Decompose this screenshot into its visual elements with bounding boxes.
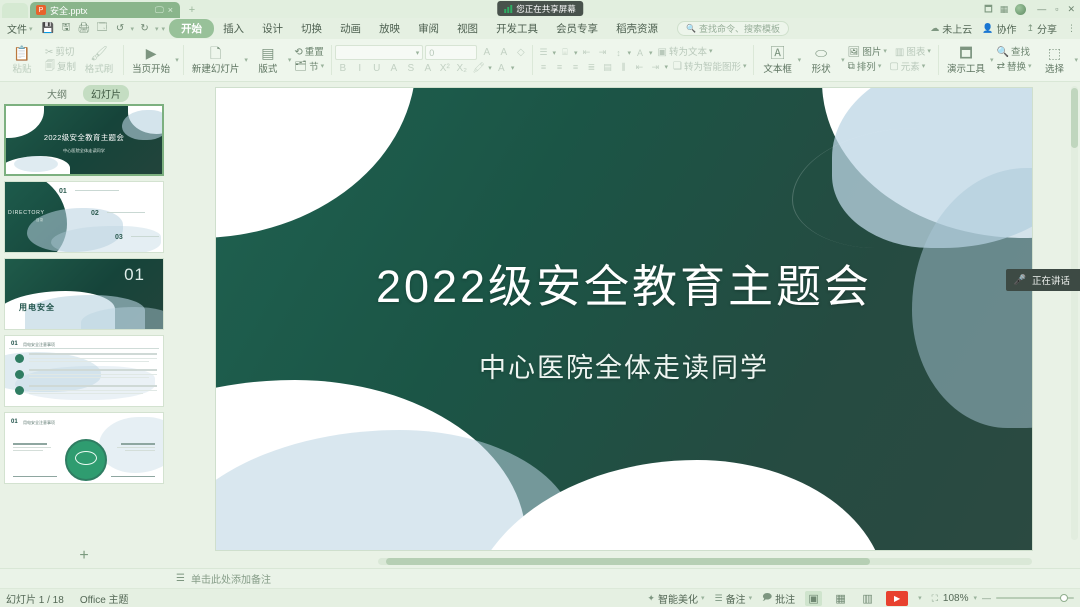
ribbon-group-start: ▶ 当页开始 ▾ [127, 40, 179, 81]
bold-button[interactable]: B [335, 61, 350, 75]
beautify-label: 智能美化 [658, 591, 698, 606]
window-controls: — ▫ ✕ [1037, 5, 1075, 14]
slide-canvas-area[interactable]: 2022级安全教育主题会 中心医院全体走读同学 [168, 82, 1080, 568]
ribbon-group-insert: 🄰 文本框 ▾ ⬭ 形状 ▾ 🖼 图片 ▾ ▥ 图表 [758, 40, 934, 81]
section-icon: 🗂 [294, 62, 307, 72]
picture-label: 图片 [862, 47, 881, 59]
chevron-down-icon: ▾ [883, 48, 887, 57]
font-color-dropdown-icon[interactable]: ▾ [511, 64, 515, 72]
minimize-button[interactable]: — [1037, 5, 1046, 14]
element-button[interactable]: ▢ 元素 ▾ [886, 61, 928, 75]
ribbon-group-slides: 🗋 新建幻灯片 ▾ ▤ 版式 ▾ ⟲ 重置 🗂 节 [187, 40, 327, 81]
clear-format-icon[interactable]: ◇ [513, 46, 528, 60]
shape-icon: ⬭ [815, 46, 827, 60]
share-icon: ↥ [1026, 23, 1034, 34]
thumb-content-number-5: 01 [11, 419, 18, 425]
element-icon: ▢ [889, 62, 898, 72]
customize-qat-icon[interactable]: ▾ [162, 25, 166, 33]
collaborate-button[interactable]: 👤 协作 [982, 21, 1016, 36]
start-from-current-button[interactable]: ▶ 当页开始 [127, 45, 175, 76]
cut-label: 剪切 [55, 47, 74, 59]
beautify-icon: ✦ [647, 593, 655, 604]
grid-icon[interactable]: ▦ [1000, 5, 1009, 14]
insert-small-buttons: 🖼 图片 ▾ ▥ 图表 ▾ ⧉ 排列 ▾ [845, 40, 934, 81]
chart-icon: ▥ [895, 48, 904, 58]
format-painter-label: 格式刷 [85, 61, 114, 75]
start-dropdown-icon[interactable]: ▾ [175, 56, 179, 64]
thumb-content-number: 01 [11, 341, 18, 347]
paste-icon: 📋 [13, 46, 30, 60]
tab-resources[interactable]: 稻壳资源 [607, 19, 667, 38]
ribbon-tabs: 开始 插入 设计 切换 动画 放映 审阅 视图 开发工具 会员专享 稻壳资源 [169, 19, 667, 38]
thumbnail-list[interactable]: 2022级安全教育主题会 中心医院全体走读同学 DIRECTORY 目录 01 [0, 104, 168, 544]
new-slide-button[interactable]: 🗋 新建幻灯片 [187, 45, 245, 76]
indent-icon[interactable]: ⇥ [595, 46, 609, 59]
paragraph-controls: ☰ ▾ ⌸ ▾ ⇤ ⇥ ↕ ▾ A ▾ ▣ 转为文本 ▾ [536, 40, 749, 81]
slide-title[interactable]: 2022级安全教育主题会 [216, 250, 1032, 315]
slide-editor: 2022级安全教育主题会 中心医院全体走读同学 [168, 82, 1080, 568]
redo-icon[interactable]: ↻ [137, 21, 152, 36]
font-size-select[interactable]: 0 [425, 45, 477, 60]
zoom-level[interactable]: 108% [943, 593, 969, 604]
slide-sorter-icon[interactable]: ▦ [832, 591, 849, 606]
shadow-button[interactable]: S [403, 61, 418, 75]
tab-animation[interactable]: 动画 [331, 19, 370, 38]
search-icon: 🔍 [997, 48, 1009, 58]
present-tool-button[interactable]: 🗖 演示工具 [942, 45, 990, 76]
search-icon: 🔍 [686, 24, 696, 33]
find-button[interactable]: 🔍 查找 [994, 46, 1033, 60]
replace-label: 替换 [1007, 62, 1026, 74]
ribbon-group-clipboard: 📋 粘贴 ✂ 剪切 🗐 复制 🖌 [2, 40, 119, 81]
horizontal-scrollbar[interactable] [378, 558, 1032, 565]
chevron-down-icon: ▾ [1028, 63, 1032, 72]
tab-start[interactable]: 开始 [169, 19, 214, 38]
decrease-list-level-icon[interactable]: ⇤ [632, 61, 646, 74]
format-painter-button[interactable]: 🖌 格式刷 [79, 45, 119, 76]
zoom-slider-knob[interactable] [1060, 594, 1068, 602]
picture-icon: 🖼 [848, 48, 861, 58]
format-painter-icon: 🖌 [90, 46, 108, 60]
align-left-icon[interactable]: ≡ [536, 61, 550, 74]
arrange-button[interactable]: ⧉ 排列 ▾ [845, 61, 885, 75]
title-bar-tabs: P 安全.pptx 🖵 × + [0, 0, 200, 18]
cloud-status-button[interactable]: ☁ 未上云 [930, 21, 972, 36]
tab-slideshow[interactable]: 放映 [370, 19, 409, 38]
menu-bar: 文件 ▾ 💾 🖫 🖨 🗔 ↺ ▾ ↻ ▾ ▾ 开始 插入 设计 切换 动画 放映… [0, 18, 1080, 39]
zoom-control: ⛶ 108% ▾ — [932, 593, 1074, 604]
font-controls: ▾ 0 A A ◇ B I U A S A X² X₂ [335, 40, 528, 81]
status-bar: 幻灯片 1 / 18 Office 主题 ✦ 智能美化 ▾ ☰ 备注 ▾ 🗩 批… [0, 588, 1080, 607]
screen-sharing-label: 您正在共享屏幕 [516, 3, 576, 15]
document-tab-label: 安全.pptx [50, 4, 88, 17]
font-size-value: 0 [429, 48, 434, 58]
thumb-content-title-5: 用电安全注意事项 [23, 420, 55, 426]
thumb-subtitle-1: 中心医院全体走读同学 [6, 148, 162, 154]
reading-view-icon[interactable]: ▥ [859, 591, 876, 606]
section-button[interactable]: 🗂 节 ▾ [291, 61, 327, 75]
columns-icon[interactable]: ⫼ [616, 61, 630, 74]
fit-slide-icon[interactable]: ⛶ [932, 593, 938, 604]
tab-member[interactable]: 会员专享 [547, 19, 607, 38]
print-icon[interactable]: 🖨 [77, 21, 92, 36]
current-slide[interactable]: 2022级安全教育主题会 中心医院全体走读同学 [216, 88, 1032, 550]
ribbon-group-font: ▾ 0 A A ◇ B I U A S A X² X₂ [335, 40, 528, 81]
new-tab-button[interactable]: + [184, 2, 200, 18]
tab-outline[interactable]: 大纲 [39, 85, 75, 102]
underline-button[interactable]: U [369, 61, 384, 75]
new-slide-label: 新建幻灯片 [192, 61, 240, 75]
element-label: 元素 [901, 62, 920, 74]
copy-button[interactable]: 🗐 复制 [42, 61, 79, 75]
status-left: 幻灯片 1 / 18 Office 主题 [6, 591, 129, 606]
chevron-down-icon: ▾ [749, 594, 753, 602]
thumb-section-title: 用电安全 [19, 302, 55, 313]
cloud-status-label: 未上云 [942, 21, 972, 36]
thumbnail-artwork: 2022级安全教育主题会 中心医院全体走读同学 [6, 106, 162, 174]
layout-icon: ▤ [261, 46, 274, 60]
font-color-button[interactable]: A [494, 61, 509, 75]
title-bar: P 安全.pptx 🖵 × + 您正在共享屏幕 🗖 ▦ — ▫ ✕ [0, 0, 1080, 18]
numbering-icon[interactable]: ⌸ [558, 46, 572, 59]
panel-tabs: 大纲 幻灯片 [0, 82, 168, 104]
textbox-label: 文本框 [763, 61, 792, 75]
slide-thumbnail-1[interactable]: 2022级安全教育主题会 中心医院全体走读同学 [4, 104, 164, 176]
paste-label: 粘贴 [12, 61, 31, 75]
chevron-down-icon: ▾ [927, 48, 931, 57]
select-dropdown-icon[interactable]: ▾ [1074, 56, 1078, 64]
thumbnail-artwork: DIRECTORY 目录 01 02 03 [5, 182, 163, 252]
select-label: 选择 [1045, 61, 1064, 75]
play-circle-icon: ▶ [146, 46, 157, 60]
comment-label: 批注 [775, 591, 795, 606]
subscript-button[interactable]: X₂ [454, 61, 469, 75]
undo-dropdown-icon[interactable]: ▾ [131, 25, 135, 33]
wps-logo[interactable] [2, 3, 28, 18]
list-level-dropdown-icon[interactable]: ▾ [664, 63, 668, 71]
quick-access-toolbar: 💾 🖫 🖨 🗔 ↺ ▾ ↻ ▾ ▾ [37, 21, 170, 36]
layout-icon[interactable]: 🗖 [984, 5, 993, 14]
notes-bar[interactable]: ☰ 单击此处添加备注 [0, 568, 1080, 588]
highlight-icon[interactable]: 🖍 [471, 61, 486, 75]
theme-name[interactable]: Office 主题 [80, 591, 129, 606]
work-area: 大纲 幻灯片 2022级安全教育主题会 中心医院全体走读同学 [0, 82, 1080, 568]
line-spacing-icon[interactable]: ↕ [611, 46, 625, 59]
thumb-item-02: 02 [91, 210, 99, 217]
more-options-button[interactable]: ⋮ [1067, 23, 1076, 34]
notes-placeholder: 单击此处添加备注 [191, 571, 271, 586]
maximize-button[interactable]: ▫ [1055, 5, 1058, 14]
menu-bar-right: ☁ 未上云 👤 协作 ↥ 分享 ⋮ [930, 18, 1076, 39]
textbox-button[interactable]: 🄰 文本框 [758, 45, 798, 76]
slide-subtitle[interactable]: 中心医院全体走读同学 [216, 346, 1032, 385]
character-spacing-button[interactable]: A [420, 61, 435, 75]
ribbon-toolbar: 📋 粘贴 ✂ 剪切 🗐 复制 🖌 [0, 39, 1080, 82]
paste-button[interactable]: 📋 粘贴 [2, 45, 42, 76]
normal-view-icon[interactable]: ▣ [805, 591, 822, 606]
beautify-button[interactable]: ✦ 智能美化 ▾ [647, 591, 704, 606]
highlight-dropdown-icon[interactable]: ▾ [488, 64, 492, 72]
screen-sharing-badge: 您正在共享屏幕 [497, 1, 583, 16]
strikethrough-button[interactable]: A [386, 61, 401, 75]
text-direction-dropdown-icon[interactable]: ▾ [649, 49, 653, 57]
search-placeholder: 查找命令、搜索模板 [699, 22, 780, 35]
print-preview-icon[interactable]: 🗔 [95, 21, 110, 36]
status-right: ✦ 智能美化 ▾ ☰ 备注 ▾ 🗩 批注 ▣ ▦ ▥ ▶ ▾ ⛶ 108% ▾ [647, 590, 1074, 606]
present-tool-icon: 🗖 [959, 46, 972, 60]
arrange-label: 排列 [857, 62, 876, 74]
tab-developer[interactable]: 开发工具 [487, 19, 547, 38]
replace-icon: ⇄ [997, 62, 1005, 72]
shape-button[interactable]: ⬭ 形状 [801, 45, 841, 76]
share-button[interactable]: ↥ 分享 [1026, 21, 1057, 36]
thumb-section-number: 01 [124, 265, 145, 285]
line-spacing-dropdown-icon[interactable]: ▾ [627, 49, 631, 57]
text-direction-icon[interactable]: A [633, 46, 647, 59]
close-tab-icon[interactable]: × [168, 5, 173, 15]
file-menu-button[interactable]: 文件 ▾ [3, 21, 37, 36]
notes-icon: ☰ [176, 573, 185, 584]
chart-button[interactable]: ▥ 图表 ▾ [892, 46, 934, 60]
chevron-down-icon: ▾ [701, 594, 705, 602]
monitor-icon[interactable]: 🖵 [155, 5, 164, 16]
decor-line-bottom [236, 418, 436, 458]
zoom-slider[interactable] [996, 597, 1074, 599]
title-bar-right: 🗖 ▦ — ▫ ✕ [984, 0, 1078, 18]
layout-button[interactable]: ▤ 版式 [248, 45, 288, 76]
speaking-label: 正在讲话 [1032, 273, 1070, 287]
increase-list-level-icon[interactable]: ⇥ [648, 61, 662, 74]
bullets-icon[interactable]: ☰ [536, 46, 550, 59]
slide-thumbnail-4[interactable]: 01 用电安全注意事项 [4, 335, 164, 407]
select-icon: ⬚ [1048, 46, 1061, 60]
textbox-icon: 🄰 [771, 46, 785, 60]
save-icon[interactable]: 💾 [41, 21, 56, 36]
slides-small-buttons: ⟲ 重置 🗂 节 ▾ [291, 40, 327, 81]
align-right-icon[interactable]: ≡ [568, 61, 582, 74]
section-dropdown-icon: ▾ [321, 63, 325, 72]
reset-label: 重置 [305, 47, 324, 59]
share-label: 分享 [1037, 21, 1057, 36]
shape-label: 形状 [812, 61, 831, 75]
cloud-icon: ☁ [930, 23, 939, 34]
cut-button[interactable]: ✂ 剪切 [42, 46, 77, 60]
chevron-down-icon: ▾ [416, 49, 420, 57]
find-label: 查找 [1011, 47, 1030, 59]
slide-thumbnail-5[interactable]: 01 用电安全注意事项 [4, 412, 164, 484]
redo-dropdown-icon[interactable]: ▾ [155, 25, 159, 33]
search-input[interactable]: 🔍 查找命令、搜索模板 [677, 21, 789, 36]
pptx-file-icon: P [36, 5, 46, 15]
tab-review[interactable]: 审阅 [409, 19, 448, 38]
document-tab[interactable]: P 安全.pptx 🖵 × [30, 2, 180, 18]
tab-transition[interactable]: 切换 [292, 19, 331, 38]
outdent-icon[interactable]: ⇤ [579, 46, 593, 59]
font-family-select[interactable]: ▾ [335, 45, 423, 60]
grow-font-button[interactable]: A [479, 46, 494, 60]
ribbon-group-tools: 🗖 演示工具 ▾ 🔍 查找 ⇄ 替换 ▾ [942, 40, 1078, 81]
slide-counter: 幻灯片 1 / 18 [6, 591, 64, 606]
thumbnail-artwork: 01 用电安全注意事项 [5, 413, 163, 483]
scissors-icon: ✂ [45, 48, 53, 58]
present-tool-label: 演示工具 [947, 61, 985, 75]
distribute-icon[interactable]: ▤ [600, 61, 614, 74]
chevron-down-icon: ▾ [29, 25, 33, 33]
bullets-dropdown-icon[interactable]: ▾ [552, 49, 556, 57]
picture-button[interactable]: 🖼 图片 ▾ [845, 46, 890, 60]
close-button[interactable]: ✕ [1067, 5, 1075, 14]
save-as-icon[interactable]: 🖫 [59, 21, 74, 36]
copy-label: 复制 [57, 62, 76, 74]
play-dropdown-icon[interactable]: ▾ [918, 594, 922, 602]
file-menu-label: 文件 [7, 21, 27, 36]
arrange-icon: ⧉ [848, 62, 855, 72]
chevron-down-icon: ▾ [709, 48, 713, 57]
chart-label: 图表 [906, 47, 925, 59]
reset-icon: ⟲ [294, 48, 302, 58]
add-slide-button[interactable]: + [0, 544, 168, 568]
new-slide-icon: 🗋 [210, 46, 221, 60]
avatar[interactable] [1015, 4, 1026, 15]
tab-design[interactable]: 设计 [253, 19, 292, 38]
thumb-directory-sub: 目录 [36, 218, 43, 223]
signal-bars-icon [504, 5, 512, 13]
chevron-down-icon: ▾ [922, 63, 926, 72]
speaking-toast: 🎤 正在讲话 [1006, 269, 1080, 291]
reset-button[interactable]: ⟲ 重置 [291, 46, 326, 60]
thumb-item-03: 03 [115, 234, 123, 241]
chevron-down-icon: ▾ [878, 63, 882, 72]
numbering-dropdown-icon[interactable]: ▾ [574, 49, 578, 57]
collaborate-icon: 👤 [982, 23, 993, 34]
tab-slides[interactable]: 幻灯片 [83, 85, 129, 102]
section-label: 节 [309, 62, 319, 74]
comment-button[interactable]: 🗩 批注 [762, 590, 795, 606]
slide-thumbnail-panel: 大纲 幻灯片 2022级安全教育主题会 中心医院全体走读同学 [0, 82, 168, 568]
align-center-icon[interactable]: ≡ [552, 61, 566, 74]
notes-icon: ☰ [714, 593, 722, 604]
chevron-down-icon: ▾ [743, 63, 747, 72]
replace-button[interactable]: ⇄ 替换 ▾ [994, 61, 1035, 75]
convert-to-text-label: 转为文本 [669, 47, 707, 59]
notes-toggle-label: 备注 [726, 591, 746, 606]
shrink-font-button[interactable]: A [496, 46, 511, 60]
more-icon: ⋮ [1067, 23, 1076, 34]
comment-icon: 🗩 [762, 590, 772, 606]
thumb-item-01: 01 [59, 188, 67, 195]
select-button[interactable]: ⬚ 选择 [1034, 45, 1074, 76]
find-replace-buttons: 🔍 查找 ⇄ 替换 ▾ [994, 40, 1035, 81]
thumbnail-artwork: 01 用电安全 [5, 259, 163, 329]
layout-label: 版式 [258, 61, 277, 75]
zoom-out-button[interactable]: — [982, 593, 991, 603]
convert-to-text-button[interactable]: ▣ 转为文本 ▾ [655, 46, 716, 60]
slide-thumbnail-2[interactable]: DIRECTORY 目录 01 02 03 [4, 181, 164, 253]
thumb-title-1: 2022级安全教育主题会 [6, 132, 162, 143]
wps-presentation-window: P 安全.pptx 🖵 × + 您正在共享屏幕 🗖 ▦ — ▫ ✕ [0, 0, 1080, 607]
justify-icon[interactable]: ≣ [584, 61, 598, 74]
zoom-dropdown-icon[interactable]: ▾ [973, 594, 977, 602]
mic-icon: 🎤 [1014, 275, 1026, 286]
convert-to-smartart-label: 转为智能图形 [684, 62, 741, 74]
undo-icon[interactable]: ↺ [113, 21, 128, 36]
superscript-button[interactable]: X² [437, 61, 452, 75]
ribbon-group-paragraph: ☰ ▾ ⌸ ▾ ⇤ ⇥ ↕ ▾ A ▾ ▣ 转为文本 ▾ [536, 40, 749, 81]
slide-thumbnail-3[interactable]: 01 用电安全 [4, 258, 164, 330]
thumb-directory-title: DIRECTORY [8, 210, 45, 216]
slideshow-play-button[interactable]: ▶ [886, 591, 908, 606]
thumbnail-artwork: 01 用电安全注意事项 [5, 336, 163, 406]
convert-text-icon: ▣ [658, 48, 667, 58]
clipboard-small-buttons: ✂ 剪切 🗐 复制 [42, 40, 79, 81]
copy-icon: 🗐 [45, 62, 55, 72]
vertical-scrollbar[interactable] [1071, 86, 1078, 540]
tab-view[interactable]: 视图 [448, 19, 487, 38]
italic-button[interactable]: I [352, 61, 367, 75]
start-from-current-label: 当页开始 [132, 61, 170, 75]
smartart-icon: ❑ [673, 62, 682, 72]
collaborate-label: 协作 [996, 21, 1016, 36]
notes-toggle-button[interactable]: ☰ 备注 ▾ [714, 591, 752, 606]
tab-insert[interactable]: 插入 [214, 19, 253, 38]
convert-to-smartart-button[interactable]: ❑ 转为智能图形 ▾ [670, 61, 750, 75]
